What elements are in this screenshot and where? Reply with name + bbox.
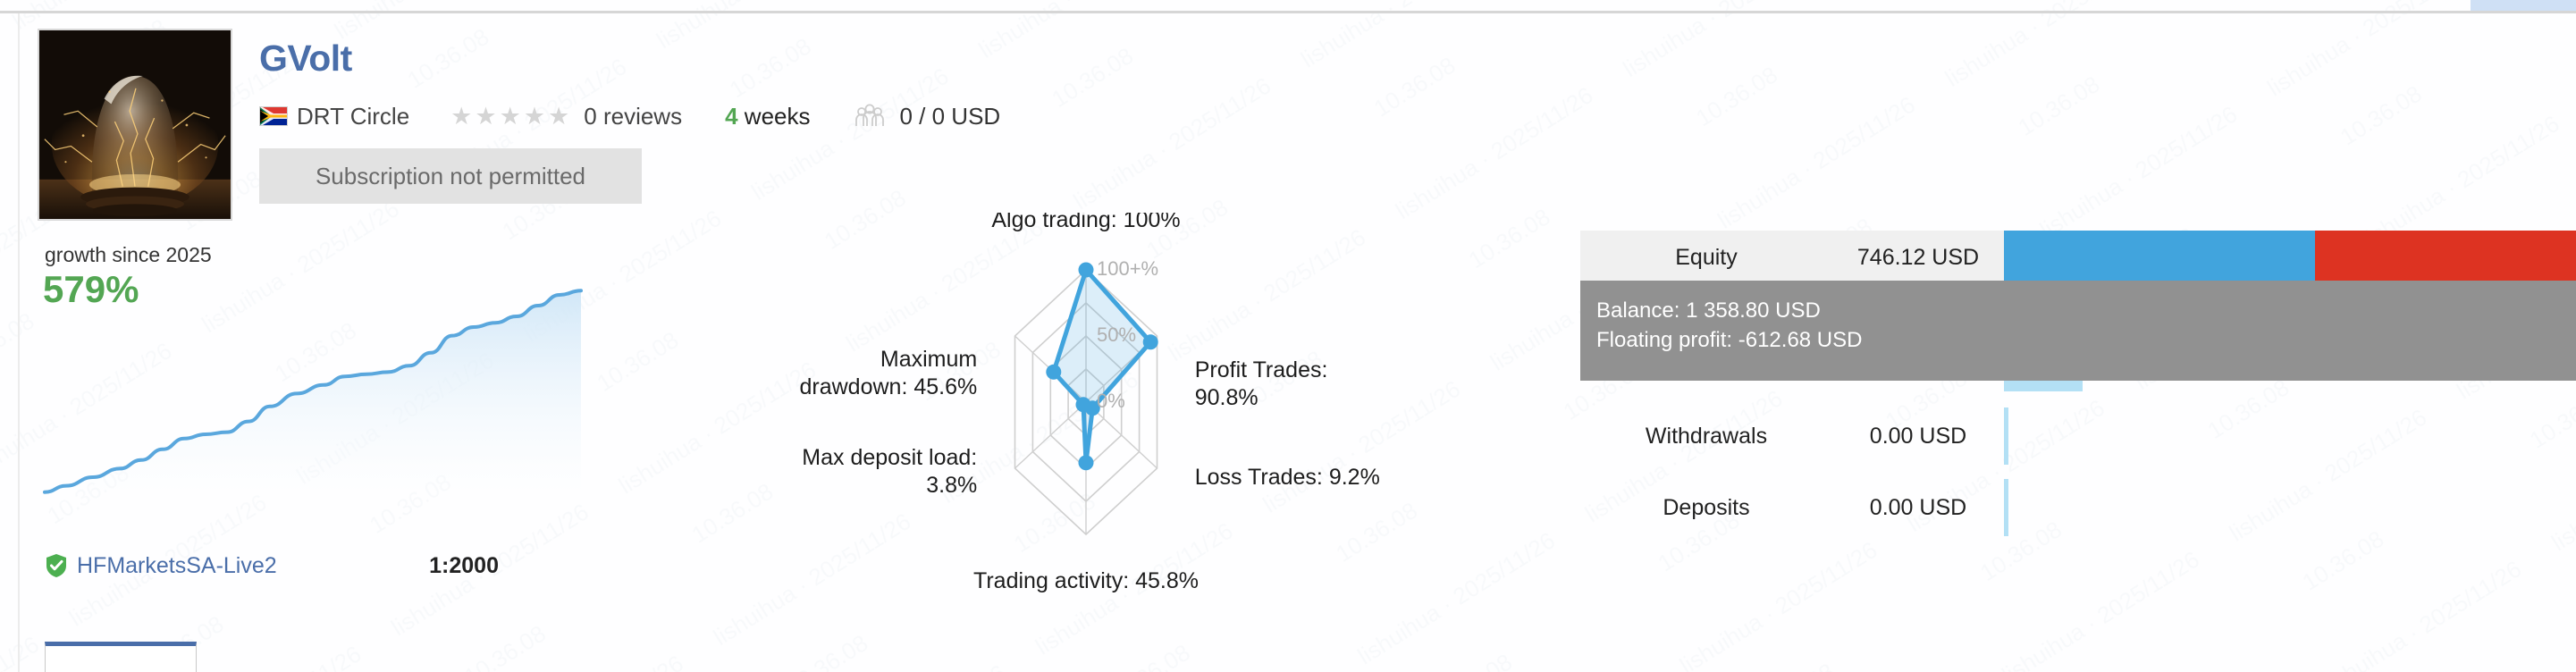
deposits-bar-area [2004, 481, 2576, 534]
tooltip-balance: Balance: 1 358.80 USD [1596, 297, 2576, 326]
top-accent-bar [2471, 0, 2576, 11]
page-title[interactable]: GVolt [259, 38, 352, 80]
account-funds-panel: Equity 746.12 USD Initial Deposit 200.00… [1580, 231, 2576, 552]
left-rule [18, 13, 20, 672]
radar-axis-label: 3.8% [926, 473, 977, 498]
stat-value: 746.12 USD [1832, 245, 2004, 271]
radar-axis-label: Algo trading: 100% [991, 213, 1180, 232]
radar-axis-label: Maximum [880, 347, 977, 372]
radar-axis-label: Trading activity: 45.8% [973, 568, 1199, 592]
stat-label: Deposits [1580, 495, 1832, 521]
south-africa-flag-icon [259, 106, 288, 126]
broker-server[interactable]: HFMarketsSA-Live2 [45, 553, 277, 579]
subscribers-glyph [853, 104, 887, 129]
radar-axis-label: 90.8% [1195, 385, 1259, 410]
broker-row: HFMarketsSA-Live2 1:2000 [45, 550, 588, 581]
star-icon: ★ [475, 105, 496, 129]
svg-text:50%: 50% [1097, 323, 1136, 346]
reviews-count[interactable]: 0 reviews [584, 103, 682, 130]
top-divider [0, 11, 2576, 13]
stat-row-withdrawals[interactable]: Withdrawals 0.00 USD [1580, 409, 2576, 463]
star-icon: ★ [548, 105, 569, 129]
radar-axis-label: Profit Trades: [1195, 357, 1328, 382]
signal-age-unit: weeks [738, 103, 811, 130]
profile-page: lishuihua · 2025/11/26 10.36.08 [0, 0, 2576, 672]
author-name[interactable]: DRT Circle [297, 103, 409, 130]
tooltip-floating-profit: Floating profit: -612.68 USD [1596, 326, 2576, 356]
stat-row-equity[interactable]: Equity 746.12 USD [1580, 231, 2576, 284]
radar-axis-label: Max deposit load: [802, 445, 977, 470]
equity-bar-blue [2004, 231, 2315, 284]
svg-text:0%: 0% [1097, 390, 1125, 412]
equity-bar-area [2004, 231, 2576, 284]
signal-age: 4 weeks [725, 103, 810, 130]
star-icon: ★ [524, 105, 545, 129]
svg-text:100+%: 100+% [1097, 257, 1158, 280]
equity-tooltip: Balance: 1 358.80 USD Floating profit: -… [1580, 281, 2576, 381]
growth-caption: growth since 2025 [45, 243, 212, 267]
broker-server-label: HFMarketsSA-Live2 [77, 553, 277, 579]
growth-value: 579% [43, 268, 139, 311]
radar-axis-label: Loss Trades: 9.2% [1195, 465, 1380, 490]
subscribers-value: 0 / 0 USD [899, 103, 1000, 130]
stat-value: 0.00 USD [1832, 495, 2004, 521]
leverage-value: 1:2000 [429, 553, 499, 579]
stat-label: Equity [1580, 245, 1832, 271]
signal-thumbnail[interactable] [38, 29, 232, 221]
equity-bar-red [2315, 231, 2576, 284]
subscribers-icon [853, 104, 887, 129]
rating-stars[interactable]: ★ ★ ★ ★ ★ [450, 105, 572, 129]
metrics-radar-chart[interactable]: 100+%50%0%Algo trading: 100%Profit Trade… [715, 213, 1457, 592]
radar-svg: 100+%50%0%Algo trading: 100%Profit Trade… [715, 213, 1457, 592]
flag-svg [260, 107, 287, 125]
plasma-dome-image [39, 30, 231, 219]
verified-shield-icon [45, 553, 68, 578]
shield-glyph [45, 553, 68, 578]
subscribe-button[interactable]: Subscription not permitted [259, 148, 642, 204]
radar-axis-label: drawdown: 45.6% [800, 374, 978, 399]
signal-age-number: 4 [725, 103, 737, 130]
withdrawals-bar-area [2004, 409, 2576, 463]
stat-label: Withdrawals [1580, 424, 1832, 449]
stat-value: 0.00 USD [1832, 424, 2004, 449]
active-tab[interactable] [45, 642, 197, 672]
star-icon: ★ [450, 105, 472, 129]
star-icon: ★ [500, 105, 521, 129]
stat-row-deposits[interactable]: Deposits 0.00 USD [1580, 481, 2576, 534]
deposits-bar [2004, 479, 2008, 536]
withdrawals-bar [2004, 407, 2008, 465]
meta-row: DRT Circle ★ ★ ★ ★ ★ 0 reviews 4 weeks [259, 100, 1000, 132]
